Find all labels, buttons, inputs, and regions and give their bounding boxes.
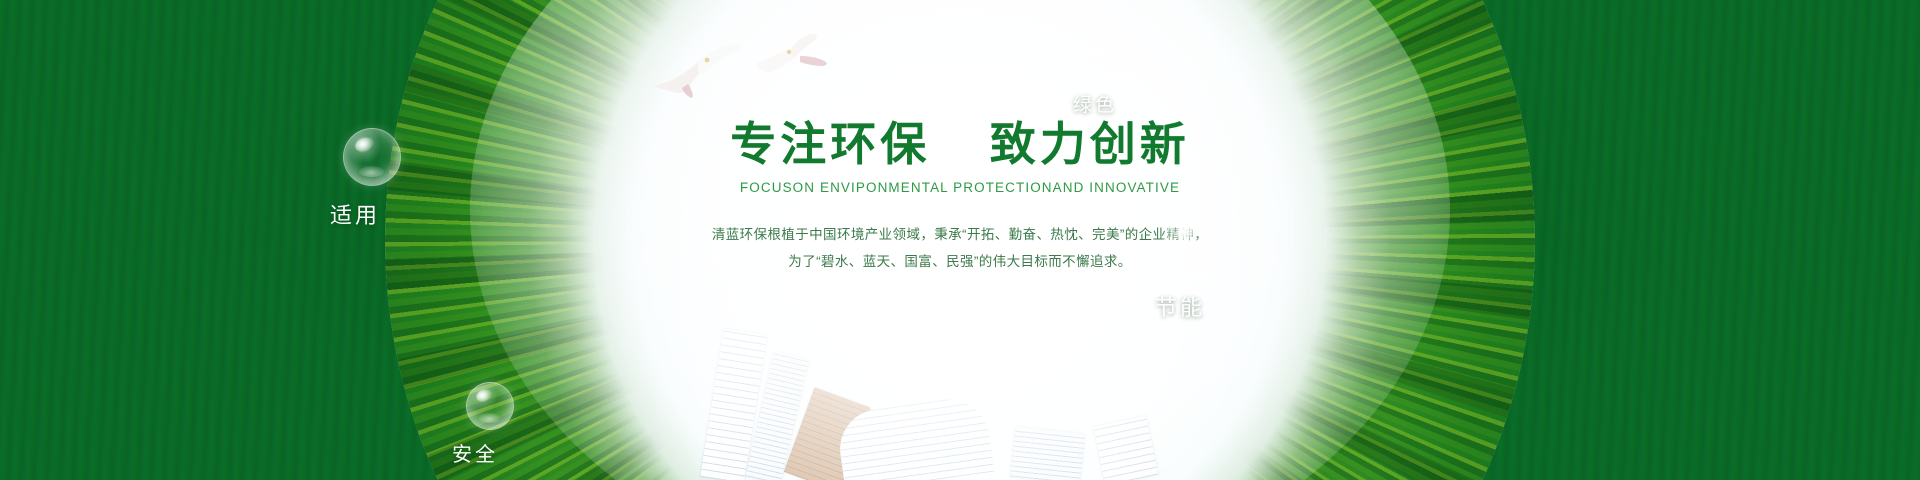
bubble-icon (466, 382, 514, 430)
feature-label: 安全 (452, 438, 514, 467)
paragraph-line-1: 清蓝环保根植于中国环境产业领域，秉承“开拓、勤奋、热忱、完美”的企业精神， (0, 221, 1920, 248)
feature-label: 绿色 (1073, 90, 1131, 117)
paragraph-line-2: 为了“碧水、蓝天、国富、民强”的伟大目标而不懈追求。 (0, 248, 1920, 275)
hero-banner: 专注环保 致力创新 FOCUSON ENVIPONMENTAL PROTECTI… (0, 0, 1920, 480)
feature-anquan[interactable]: 安全 (452, 382, 514, 467)
hero-copy: 专注环保 致力创新 FOCUSON ENVIPONMENTAL PROTECTI… (0, 118, 1920, 275)
bubble-icon (343, 128, 401, 186)
feature-shiyong[interactable]: 适用 (330, 128, 401, 230)
headline-part-1: 专注环保 (730, 118, 930, 170)
foreground-tower (1010, 427, 1085, 480)
feature-jieneng[interactable]: 节能 (1155, 214, 1227, 322)
bird-left (650, 42, 750, 98)
bird-icon (748, 34, 832, 86)
feature-label: 适用 (330, 198, 401, 230)
bird-right (748, 34, 832, 86)
bubble-icon (1087, 38, 1131, 82)
bird-icon (650, 42, 750, 98)
bubble-icon (1163, 214, 1227, 278)
headline: 专注环保 致力创新 (0, 118, 1920, 171)
hero-paragraph: 清蓝环保根植于中国环境产业领域，秉承“开拓、勤奋、热忱、完美”的企业精神， 为了… (0, 221, 1920, 275)
feature-label: 节能 (1155, 290, 1227, 322)
feature-lvse[interactable]: 绿色 (1073, 38, 1131, 117)
headline-part-2: 致力创新 (990, 118, 1190, 170)
tower-facade (1010, 427, 1085, 480)
subheadline: FOCUSON ENVIPONMENTAL PROTECTIONAND INNO… (0, 180, 1920, 195)
